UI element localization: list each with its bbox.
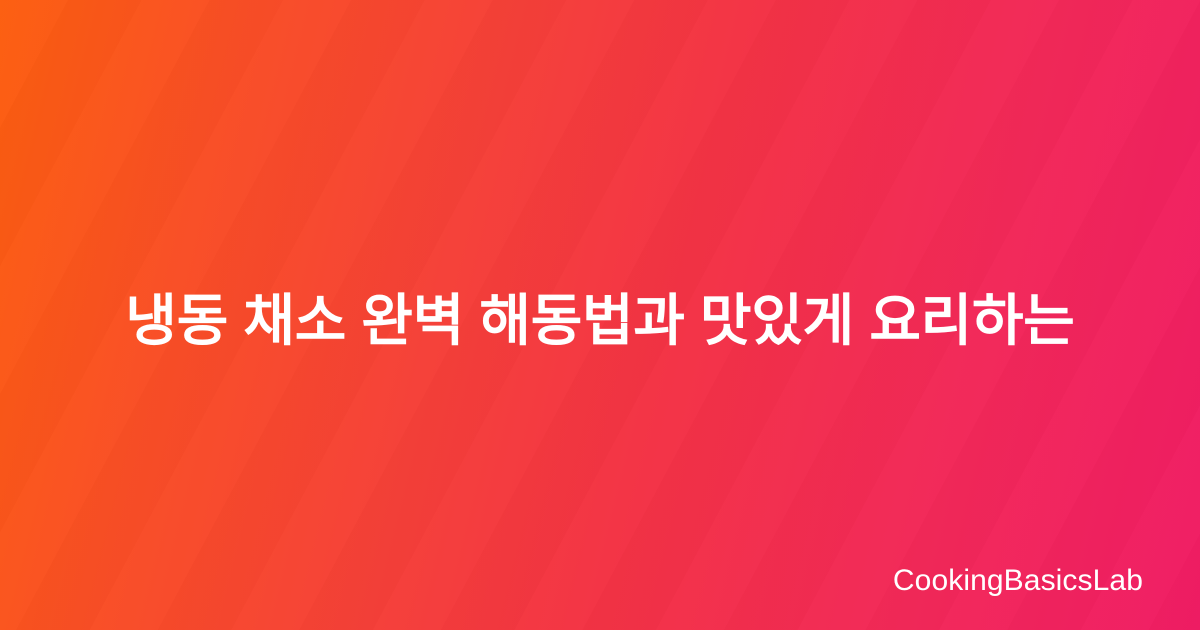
- card-title: 냉동 채소 완벽 해동법과 맛있게 요리하는: [76, 283, 1124, 359]
- brand-name-label: CookingBasicsLab: [893, 566, 1143, 596]
- social-share-card: 냉동 채소 완벽 해동법과 맛있게 요리하는 CookingBasicsLab: [0, 0, 1200, 630]
- card-content: 냉동 채소 완벽 해동법과 맛있게 요리하는: [0, 0, 1200, 630]
- brand-watermark: CookingBasicsLab: [893, 566, 1143, 596]
